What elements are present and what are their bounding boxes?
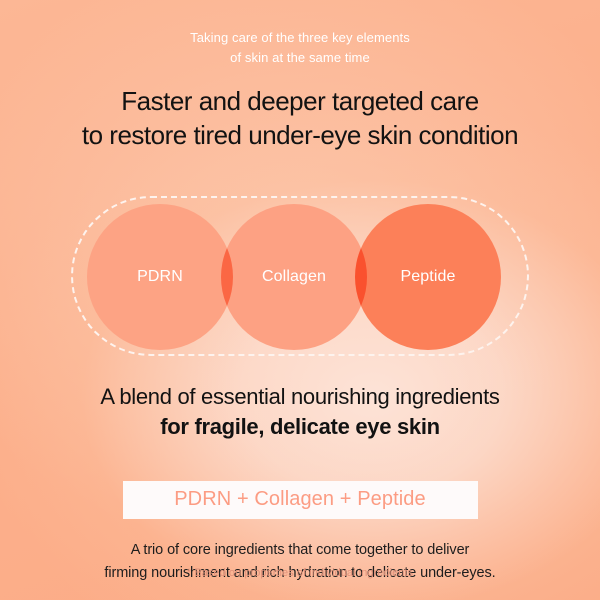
eyebrow-line-2: of skin at the same time xyxy=(190,48,410,68)
venn-label-collagen: Collagen xyxy=(262,268,326,286)
description-line-1: A trio of core ingredients that come tog… xyxy=(104,539,495,562)
venn-circle-peptide: Peptide xyxy=(355,204,501,350)
page-title: Faster and deeper targeted care to resto… xyxy=(82,85,518,153)
venn-circle-collagen: Collagen xyxy=(221,204,367,350)
venn-circle-pdrn: PDRN xyxy=(87,204,233,350)
ingredient-list-text: PDRN + Collagen + Peptide xyxy=(174,488,426,511)
venn-label-peptide: Peptide xyxy=(401,268,456,286)
venn-label-pdrn: PDRN xyxy=(137,268,183,286)
eyebrow-text: Taking care of the three key elements of… xyxy=(190,28,410,68)
footnote-disclaimer: * Based on properties of individual ingr… xyxy=(0,567,600,579)
subheading: A blend of essential nourishing ingredie… xyxy=(100,382,499,443)
venn-diagram: PDRN Collagen Peptide xyxy=(65,194,535,353)
infographic-poster: Taking care of the three key elements of… xyxy=(0,0,600,600)
headline-line-2: to restore tired under-eye skin conditio… xyxy=(82,119,518,153)
ingredient-highlight-bar: PDRN + Collagen + Peptide xyxy=(123,481,478,519)
headline-line-1: Faster and deeper targeted care xyxy=(82,85,518,119)
subheading-line-2: for fragile, delicate eye skin xyxy=(100,412,499,442)
subheading-line-1: A blend of essential nourishing ingredie… xyxy=(100,382,499,412)
eyebrow-line-1: Taking care of the three key elements xyxy=(190,28,410,48)
venn-circle-group: PDRN Collagen Peptide xyxy=(65,194,535,353)
